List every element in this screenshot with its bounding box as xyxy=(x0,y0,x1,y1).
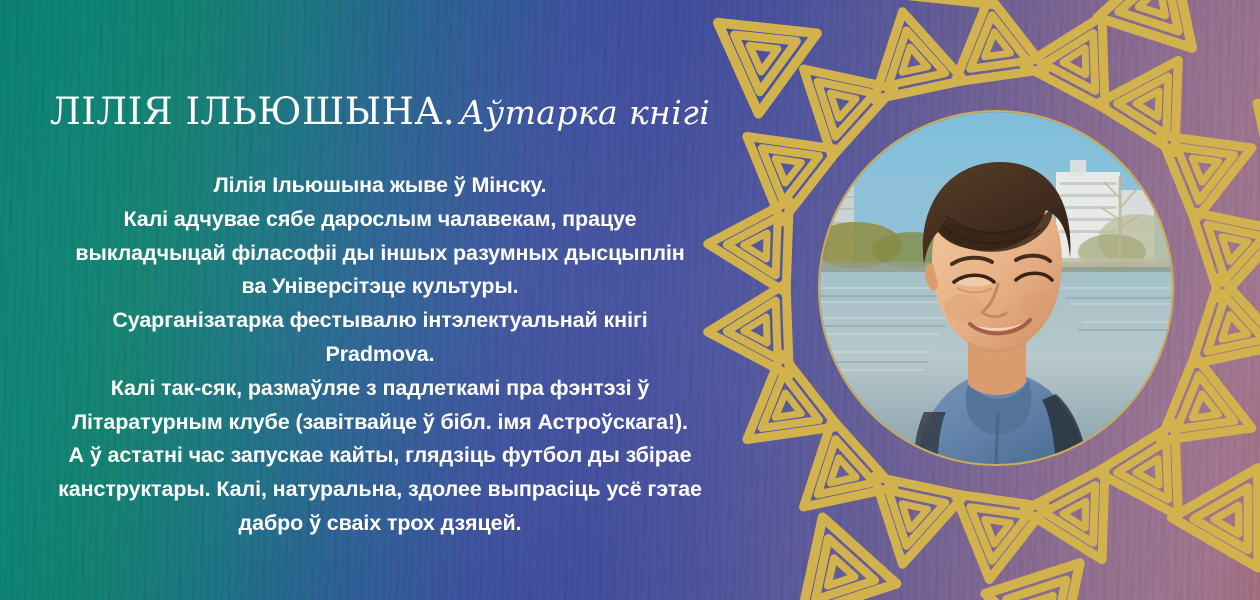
ornament-triangle xyxy=(773,35,894,157)
bio-line: Літаратурным клубе (завітвайце ў бібл. і… xyxy=(0,406,760,440)
bio-line: канструктары. Калі, натуральна, здолее в… xyxy=(0,473,760,507)
bio-line: выкладчыцай філасофіі ды іншых разумных … xyxy=(0,237,760,271)
page-title: ЛІЛІЯ ІЛЬЮШЫНА. Аўтарка кнігі xyxy=(0,93,760,130)
bio-line: Калі так-сяк, размаўляе з падлеткамі пра… xyxy=(0,372,760,406)
bio-line: дабро ў сваіх трох дзяцей. xyxy=(0,507,760,541)
ornament-triangle xyxy=(858,2,965,99)
ornament-triangle xyxy=(1172,468,1260,593)
bio-line: Калі адчувае сябе дарослым чалавекам, пр… xyxy=(0,203,760,237)
bio-line: А ў астатні час запускае кайты, глядзіць… xyxy=(0,439,760,473)
avatar xyxy=(820,112,1172,464)
author-bio: Лілія Ільюшына жыве ў Мінску.Калі адчува… xyxy=(0,169,760,541)
ornament-triangle xyxy=(944,494,1046,586)
author-role: Аўтарка кнігі xyxy=(460,93,711,132)
text-column: ЛІЛІЯ ІЛЬЮШЫНА. Аўтарка кнігі Лілія Ілью… xyxy=(0,0,760,600)
author-photo xyxy=(820,112,1172,464)
ornament-triangle xyxy=(1192,187,1260,299)
ornament-triangle xyxy=(1097,36,1217,153)
ornament-triangle xyxy=(985,563,1106,600)
ornament-triangle xyxy=(1098,0,1219,48)
ornament-triangle xyxy=(773,419,894,541)
author-name: ЛІЛІЯ ІЛЬЮШЫНА. xyxy=(50,90,455,133)
bio-line: Суарганізатарка фестывалю інтэлектуальна… xyxy=(0,304,760,338)
bio-line: ва Універсітэце культуры. xyxy=(0,270,760,304)
ornament-triangle xyxy=(1160,105,1260,220)
bio-line: Лілія Ільюшына жыве ў Мінску. xyxy=(0,169,760,203)
bio-line: Pradmova. xyxy=(0,338,760,372)
author-profile-card: ЛІЛІЯ ІЛЬЮШЫНА. Аўтарка кнігі Лілія Ілью… xyxy=(0,0,1260,600)
ornament-triangle xyxy=(896,0,1004,4)
ornament-triangle xyxy=(1024,467,1143,581)
ornament-triangle xyxy=(1024,0,1143,109)
ornament-triangle xyxy=(1097,423,1217,540)
ornament-triangle xyxy=(944,0,1046,82)
ornament-triangle xyxy=(858,476,965,573)
ornament-triangle xyxy=(1192,277,1260,389)
ornament-triangle xyxy=(765,517,897,600)
ornament-triangle xyxy=(1160,355,1260,470)
